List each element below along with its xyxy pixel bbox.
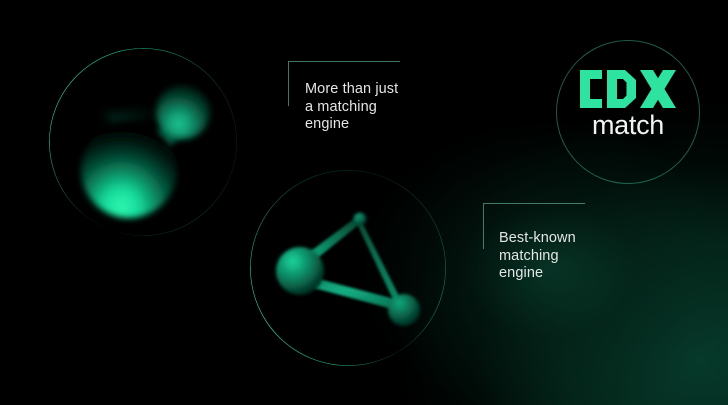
node-graph-graphic [250, 170, 446, 366]
medium-node [388, 294, 420, 326]
molecule-blob-graphic [49, 48, 237, 236]
small-node [354, 213, 367, 226]
logo-wordmark: match [592, 110, 664, 140]
slide-canvas: More than just a matching engine Best-kn… [0, 0, 728, 405]
callout-text: Best-known matching engine [499, 230, 614, 283]
dxmatch-logo[interactable]: match [568, 70, 688, 150]
callout-best-known: Best-known matching engine [483, 203, 603, 293]
callout-text: More than just a matching engine [305, 81, 415, 134]
callout-more-than-just: More than just a matching engine [288, 61, 408, 151]
large-node [276, 247, 324, 295]
dx-logo-mark [580, 70, 676, 108]
